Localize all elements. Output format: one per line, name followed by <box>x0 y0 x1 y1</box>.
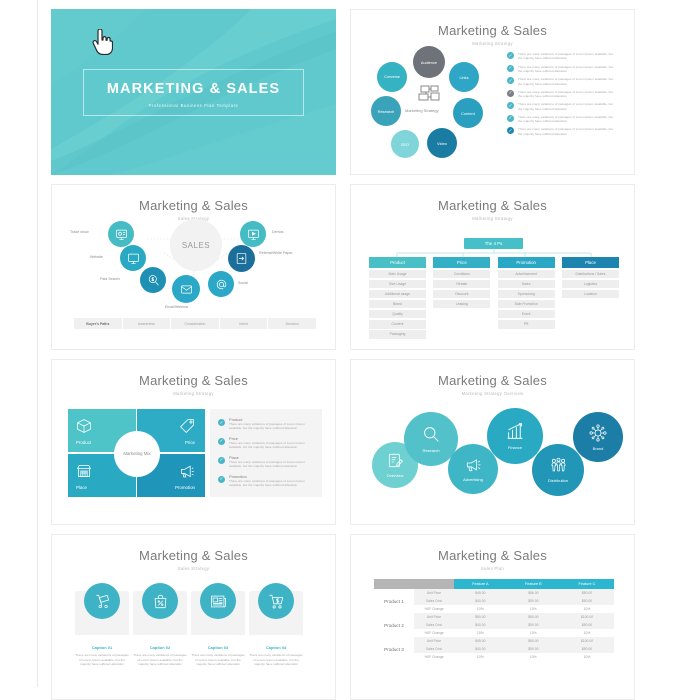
node-converse-label: Converse <box>384 75 400 79</box>
node-seo-label: SEO <box>401 142 409 147</box>
slide-subtitle: Marketing Strategy <box>52 391 335 396</box>
row-label: %0F Change <box>414 629 454 637</box>
product-name: Product 2 <box>374 613 414 637</box>
slide-4-four-ps[interactable]: Marketing & Sales Marketing Strategy The… <box>350 184 635 350</box>
cell: 10% <box>560 629 614 637</box>
path-step-consideration[interactable]: Consideration <box>171 318 220 329</box>
product-name: Product 1 <box>374 589 414 613</box>
channel-email-webinar-label: Email/Webinar <box>165 305 188 309</box>
check-icon: ✓ <box>507 102 514 109</box>
ps-cell[interactable]: Discount <box>433 290 490 299</box>
overview-circle-distribution[interactable]: Distribution <box>532 444 584 496</box>
bullet-item[interactable]: ✓ Promotion There are many variations of… <box>218 474 316 488</box>
caption-body: There are many variations of passages of… <box>191 653 245 667</box>
buyers-path-bar: Buyer's Paths Awareness Consideration In… <box>74 318 316 329</box>
node-video-label: Video <box>437 141 447 146</box>
ps-cell[interactable]: Size Usage <box>369 280 426 289</box>
ps-cell[interactable]: Quality <box>369 310 426 319</box>
slide-subtitle: Marketing Strategy Overview <box>351 391 634 396</box>
table-corner-blank <box>374 579 414 589</box>
node-research-label: Research <box>378 109 395 114</box>
slide-title: Marketing & Sales <box>52 373 335 388</box>
ps-cell[interactable]: PR <box>498 320 555 329</box>
cell: $45.00 <box>454 637 507 645</box>
slide-3-sales-strategy[interactable]: Marketing & Sales Sales Strategy SALES T… <box>51 184 336 350</box>
cell: $50.00 <box>507 597 560 605</box>
path-step-awareness[interactable]: Awareness <box>123 318 172 329</box>
ps-cell[interactable]: Distributions / Sales <box>562 270 619 279</box>
cell: 10% <box>454 605 507 613</box>
caption-body: There are many variations of passages of… <box>249 653 303 667</box>
bullet-text: There are many variations of passages of… <box>229 479 317 488</box>
strategy-bullet-list: ✓ There are many variations of passages … <box>507 52 614 140</box>
table-corner-blank-2 <box>414 579 454 589</box>
overview-circle-brand[interactable]: Brand <box>573 412 623 462</box>
hand-truck-icon <box>84 583 120 619</box>
path-step-intent[interactable]: Intent <box>220 318 269 329</box>
cell: $100.00 <box>560 613 614 621</box>
bullet-text: There are many variations of passages of… <box>229 422 317 431</box>
envelope-icon <box>180 283 193 296</box>
overview-circle-label: Finance <box>508 445 522 450</box>
table-header-feature-a[interactable]: Feature A <box>454 579 507 589</box>
channel-website[interactable] <box>120 245 146 271</box>
check-icon: ✓ <box>218 419 225 426</box>
cell: $40.00 <box>454 621 507 629</box>
ps-cell[interactable]: Packaging <box>369 330 426 339</box>
magnifier-icon <box>422 425 441 444</box>
cell: $50.00 <box>560 597 614 605</box>
overview-circle-finance[interactable]: Finance <box>487 408 543 464</box>
cell: 10% <box>454 653 507 661</box>
slide-title: Marketing & Sales <box>351 373 634 388</box>
brand-network-icon <box>589 424 607 442</box>
cell: 10% <box>560 605 614 613</box>
four-ps-columns: Product Main Usage Size Usage Additional… <box>369 257 619 339</box>
four-ps-header[interactable]: The 4 Ps <box>464 238 523 249</box>
ps-column-product: Product Main Usage Size Usage Additional… <box>369 257 426 339</box>
bullet-item[interactable]: ✓ There are many variations of passages … <box>507 90 614 99</box>
cell: $80.00 <box>560 645 614 653</box>
table-header-row: Feature A Feature B Feature C <box>374 579 614 589</box>
bullet-text: There are many variations of passages of… <box>518 127 614 136</box>
caption-card-3[interactable]: Caption 03 There are many variations of … <box>191 591 245 667</box>
channel-social[interactable] <box>208 271 234 297</box>
ps-cell[interactable]: Advertisement <box>498 270 555 279</box>
caption-title: Caption 01 <box>75 645 129 650</box>
cell: 10% <box>560 653 614 661</box>
row-label: Unit Price <box>414 589 454 597</box>
channel-referral-label: Referral/White Paper <box>259 251 299 256</box>
channel-email-webinar[interactable] <box>172 275 200 303</box>
cell: $45.00 <box>454 589 507 597</box>
ps-column-place: Place Distributions / Sales Logistics Lo… <box>562 257 619 339</box>
bullet-text: There are many variations of passages of… <box>518 77 614 86</box>
channel-social-label: Social <box>238 281 248 285</box>
ps-cell[interactable]: Additional usage <box>369 290 426 299</box>
strategy-blocks-icon <box>413 84 447 106</box>
at-sign-icon <box>215 278 228 291</box>
check-icon: ✓ <box>507 90 514 97</box>
cell: $100.00 <box>560 637 614 645</box>
bullet-text: There are many variations of passages of… <box>518 115 614 124</box>
slide-2-marketing-strategy[interactable]: Marketing & Sales Marketing Strategy Mar… <box>350 9 635 175</box>
cell: $50.00 <box>507 637 560 645</box>
bullet-item[interactable]: ✓ There are many variations of passages … <box>507 127 614 136</box>
node-converse[interactable]: Converse <box>377 62 407 92</box>
node-seo[interactable]: SEO <box>391 130 419 158</box>
caption-body: There are many variations of passages of… <box>75 653 129 667</box>
cell: $80.00 <box>560 589 614 597</box>
slide-title: Marketing & Sales <box>52 198 335 213</box>
check-icon: ✓ <box>507 77 514 84</box>
document-arrow-icon <box>235 252 248 265</box>
caption-title: Caption 04 <box>249 645 303 650</box>
ps-cell[interactable]: Sponsoring <box>498 290 555 299</box>
sales-channel-cluster: SALES Trade show Website Paid Search <box>52 219 336 309</box>
row-label: %0F Change <box>414 653 454 661</box>
cell: $50.00 <box>454 613 507 621</box>
check-icon: ✓ <box>507 127 514 134</box>
bullet-text: There are many variations of passages of… <box>518 65 614 74</box>
monitor-play-icon <box>247 228 260 241</box>
channel-demos-label: Demos <box>272 230 283 234</box>
check-icon: ✓ <box>218 476 225 483</box>
slide-1-cover[interactable]: MARKETING & SALES Professional Business … <box>51 9 336 175</box>
ps-cell[interactable]: Event <box>498 310 555 319</box>
check-icon: ✓ <box>218 457 225 464</box>
caption-body: There are many variations of passages of… <box>133 653 187 667</box>
cover-subtitle: Professional Business Plan Template <box>84 103 303 108</box>
node-audience-label: Audience <box>421 60 437 65</box>
ps-header-place[interactable]: Place <box>562 257 619 268</box>
channel-trade-show[interactable] <box>108 221 134 247</box>
channel-paid-search[interactable] <box>140 267 166 293</box>
marketing-mix-hub: Marketing Mix <box>114 431 160 477</box>
overview-circle-advertising[interactable]: Advertising <box>448 444 498 494</box>
cell: $50.00 <box>507 645 560 653</box>
cell: $80.00 <box>560 621 614 629</box>
channel-paid-search-label: Paid Search <box>100 277 120 281</box>
clipboard-pen-icon <box>387 452 404 469</box>
quadrant-product-label: Product <box>76 440 91 445</box>
cell: 10% <box>507 629 560 637</box>
slide-7-captions[interactable]: Marketing & Sales Sales Strategy Caption… <box>51 534 336 700</box>
strategy-circle-cluster: Marketing Strategy Audience Links Conten… <box>365 46 495 164</box>
sales-plan-table: Feature A Feature B Feature C Product 1 … <box>374 579 614 661</box>
bar-chart-icon <box>506 422 525 441</box>
bullet-item[interactable]: ✓ There are many variations of passages … <box>507 115 614 124</box>
check-icon: ✓ <box>507 65 514 72</box>
presentation-icon <box>115 228 128 241</box>
newspaper-icon <box>200 583 236 619</box>
ps-cell[interactable]: Main Usage <box>369 270 426 279</box>
slide-subtitle: Sales Plan <box>351 566 634 571</box>
cover-title: MARKETING & SALES <box>84 81 303 97</box>
pointing-hand-cursor-icon <box>91 29 113 55</box>
caption-title: Caption 03 <box>191 645 245 650</box>
table-header-feature-b[interactable]: Feature B <box>507 579 560 589</box>
cell: $40.00 <box>454 645 507 653</box>
row-label: Unit Price <box>414 613 454 621</box>
bullet-text: There are many variations of passages of… <box>229 460 317 469</box>
sales-hub-label: SALES <box>182 241 210 250</box>
check-icon: ✓ <box>218 438 225 445</box>
marketing-mix-hub-label: Marketing Mix <box>123 451 150 457</box>
sales-hub: SALES <box>170 219 222 271</box>
bullet-text: There are many variations of passages of… <box>518 102 614 111</box>
channel-website-label: Website <box>90 255 103 259</box>
channel-referral[interactable] <box>228 245 255 272</box>
slide-subtitle: Sales Strategy <box>52 566 335 571</box>
slide-8-sales-plan[interactable]: Marketing & Sales Sales Plan Feature A F… <box>350 534 635 700</box>
path-step-buyers-paths[interactable]: Buyer's Paths <box>74 318 123 329</box>
quadrant-price-label: Price <box>185 440 195 445</box>
ps-cell[interactable]: Sale Promotion <box>498 300 555 309</box>
caption-title: Caption 02 <box>133 645 187 650</box>
ps-cell[interactable]: Leasing <box>433 300 490 309</box>
channel-trade-show-label: Trade show <box>70 230 89 234</box>
caption-card-body <box>75 591 129 635</box>
megaphone-icon <box>465 456 482 473</box>
ps-cell[interactable]: Logistics <box>562 280 619 289</box>
ps-cell[interactable]: Sales <box>498 280 555 289</box>
bullet-item[interactable]: ✓ Price There are many variations of pas… <box>218 436 316 450</box>
node-links[interactable]: Links <box>449 62 479 92</box>
path-step-decision[interactable]: Decision <box>268 318 316 329</box>
cell: $50.00 <box>507 621 560 629</box>
table-row[interactable]: Product 1 Unit Price $45.00 $56.00 $80.0… <box>374 589 614 597</box>
row-label: Sales Cost <box>414 621 454 629</box>
slide-title: Marketing & Sales <box>351 198 634 213</box>
cell: 10% <box>507 605 560 613</box>
node-video[interactable]: Video <box>427 128 457 158</box>
ps-cell[interactable]: Brand <box>369 300 426 309</box>
ps-cell[interactable]: Location <box>562 290 619 299</box>
ps-column-promotion: Promotion Advertisement Sales Sponsoring… <box>498 257 555 339</box>
ps-header-product[interactable]: Product <box>369 257 426 268</box>
overview-circle-label: Distribution <box>548 478 568 483</box>
caption-card-1[interactable]: Caption 01 There are many variations of … <box>75 591 129 667</box>
caption-card-4[interactable]: Caption 04 There are many variations of … <box>249 591 303 667</box>
sale-bag-icon <box>142 583 178 619</box>
ps-header-promotion[interactable]: Promotion <box>498 257 555 268</box>
bullet-item[interactable]: ✓ There are many variations of passages … <box>507 65 614 74</box>
bullet-item[interactable]: ✓ Place There are many variations of pas… <box>218 455 316 469</box>
ps-cell[interactable]: Conditions <box>433 270 490 279</box>
slide-5-marketing-mix[interactable]: Marketing & Sales Marketing Strategy Pro… <box>51 359 336 525</box>
slide-title: Marketing & Sales <box>351 23 634 38</box>
node-links-label: Links <box>459 75 468 80</box>
bullet-item[interactable]: ✓ Product There are many variations of p… <box>218 417 316 431</box>
cover-title-frame: MARKETING & SALES Professional Business … <box>83 69 304 116</box>
channel-demos[interactable] <box>240 221 266 247</box>
cell: $50.00 <box>507 613 560 621</box>
search-dollar-icon <box>147 274 160 287</box>
cell: 10% <box>507 653 560 661</box>
cell: 15% <box>454 629 507 637</box>
overview-circle-label: Advertising <box>463 477 483 482</box>
ps-cell[interactable]: Content <box>369 320 426 329</box>
caption-card-body <box>133 591 187 635</box>
row-label: Sales Cost <box>414 645 454 653</box>
monitor-icon <box>127 252 140 265</box>
overview-circle-label: Research <box>422 448 439 453</box>
page-left-rule <box>37 0 38 687</box>
caption-card-body <box>191 591 245 635</box>
row-label: Unit Price <box>414 637 454 645</box>
slide-title: Marketing & Sales <box>52 548 335 563</box>
node-research[interactable]: Research <box>371 96 401 126</box>
check-icon: ✓ <box>507 115 514 122</box>
row-label: %0F Change <box>414 605 454 613</box>
bullet-item[interactable]: ✓ There are many variations of passages … <box>507 102 614 111</box>
ps-header-price[interactable]: Price <box>433 257 490 268</box>
marketing-mix-bullet-panel: ✓ Product There are many variations of p… <box>210 409 322 497</box>
bullet-item[interactable]: ✓ There are many variations of passages … <box>507 77 614 86</box>
table-row[interactable]: Product 2 Unit Price $50.00 $50.00 $100.… <box>374 613 614 621</box>
product-name: Product 3 <box>374 637 414 661</box>
node-audience[interactable]: Audience <box>413 46 445 78</box>
overview-circle-row: Overview Research Advertising Finance <box>360 404 627 510</box>
shopping-cart-icon <box>258 583 294 619</box>
caption-card-2[interactable]: Caption 02 There are many variations of … <box>133 591 187 667</box>
strategy-hub-label: Marketing Strategy <box>405 108 439 113</box>
bullet-text: There are many variations of passages of… <box>229 441 317 450</box>
check-icon: ✓ <box>507 52 514 59</box>
cell: $40.00 <box>454 597 507 605</box>
table-row[interactable]: Product 3 Unit Price $45.00 $50.00 $100.… <box>374 637 614 645</box>
slide-subtitle: Marketing Strategy <box>351 216 634 221</box>
slide-6-strategy-overview[interactable]: Marketing & Sales Marketing Strategy Ove… <box>350 359 635 525</box>
cell: $56.00 <box>507 589 560 597</box>
slide-grid: MARKETING & SALES Professional Business … <box>51 9 635 700</box>
slide-title: Marketing & Sales <box>351 548 634 563</box>
ps-column-price: Price Conditions Rebate Discount Leasing <box>433 257 490 339</box>
quadrant-promotion-label: Promotion <box>175 485 195 490</box>
quadrant-place-label: Place <box>76 485 87 490</box>
node-content[interactable]: Content <box>453 98 483 128</box>
bullet-text: There are many variations of passages of… <box>518 52 614 61</box>
row-label: Sales Cost <box>414 597 454 605</box>
overview-circle-label: Overview <box>387 473 404 478</box>
node-content-label: Content <box>461 111 475 116</box>
people-icon <box>550 457 567 474</box>
bullet-text: There are many variations of passages of… <box>518 90 614 99</box>
overview-circle-label: Brand <box>593 446 604 451</box>
caption-card-body <box>249 591 303 635</box>
bullet-item[interactable]: ✓ There are many variations of passages … <box>507 52 614 61</box>
table-header-feature-c[interactable]: Feature C <box>560 579 614 589</box>
ps-cell[interactable]: Rebate <box>433 280 490 289</box>
